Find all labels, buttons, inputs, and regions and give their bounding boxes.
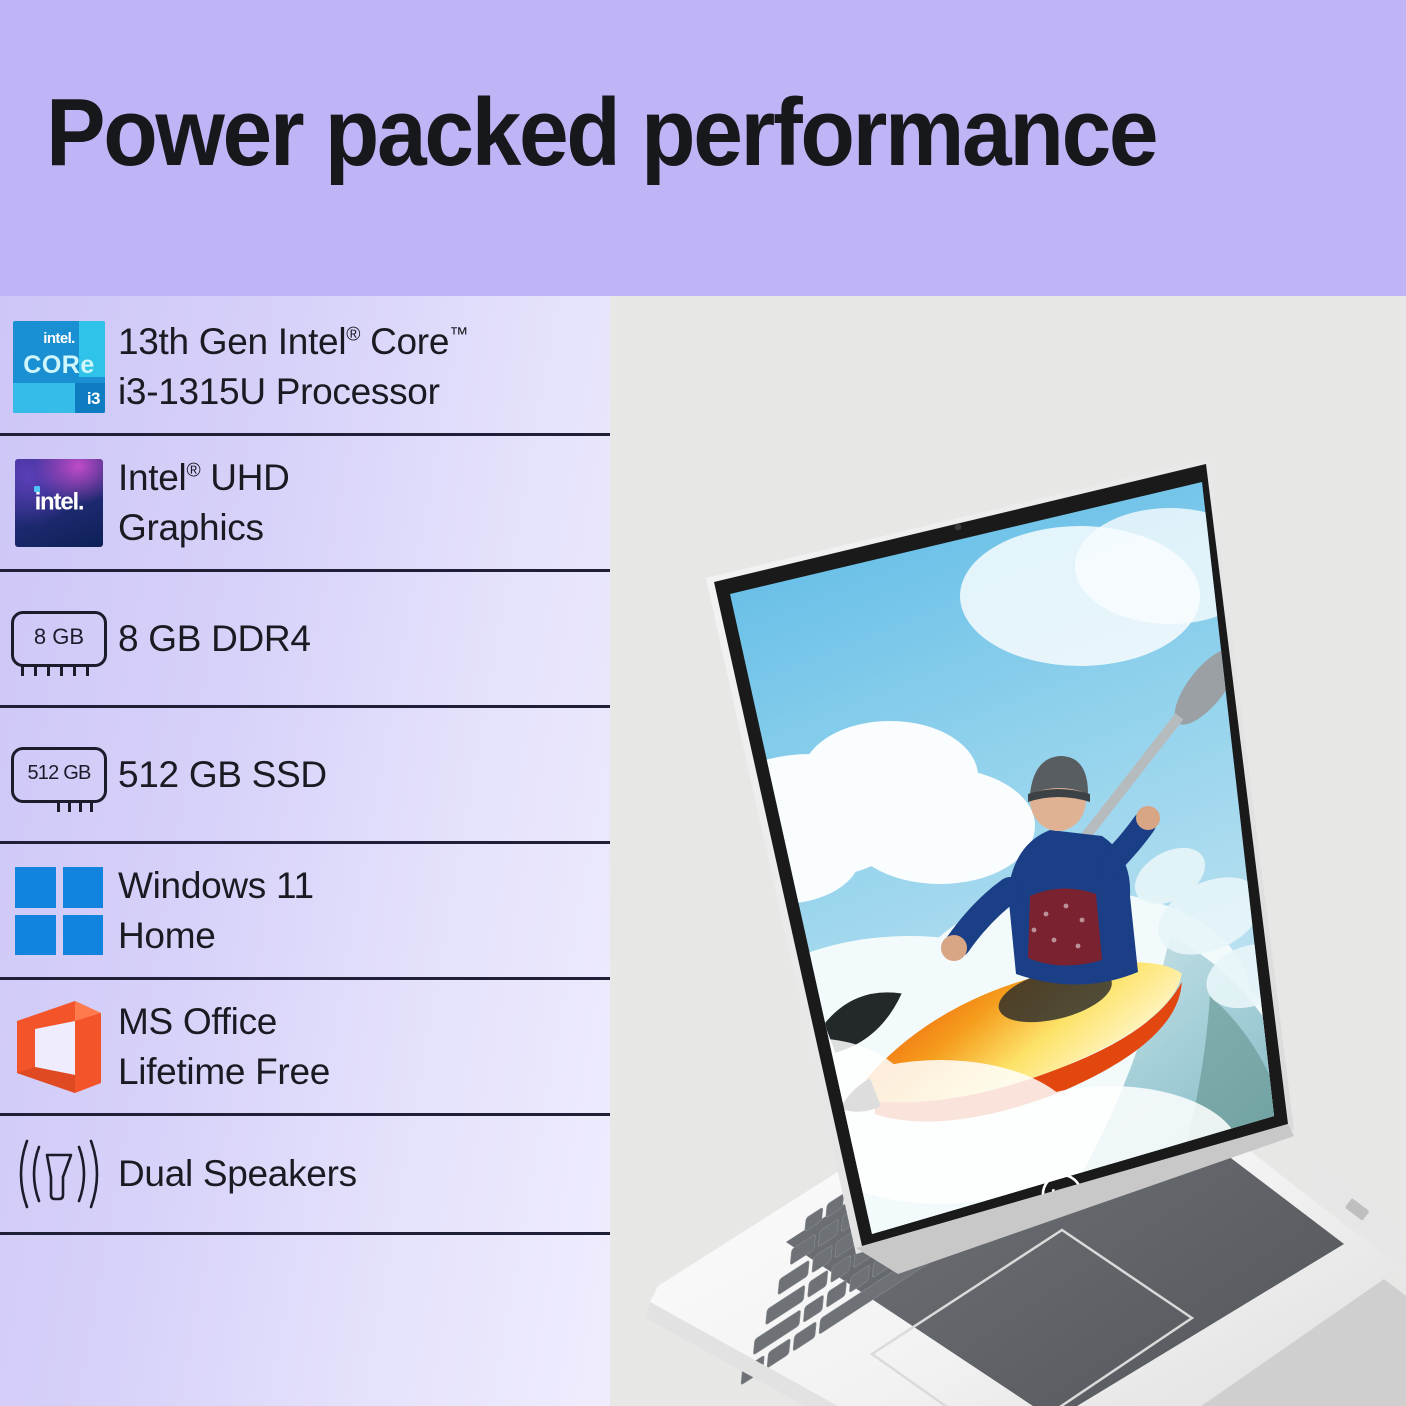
hp-laptop-photo: hp (610, 296, 1406, 1406)
ssd-chip-capacity: 512 GB (11, 747, 107, 803)
spec-label-graphics: Intel® UHDGraphics (118, 453, 290, 554)
spec-row-memory: 8 GB 8 GB DDR4 (0, 572, 610, 706)
spec-label-storage: 512 GB SSD (118, 750, 327, 800)
spec-label-office: MS Office Lifetime Free (118, 997, 330, 1098)
headline-banner: Power packed performance (0, 0, 1406, 296)
spec-list-panel: intel. CORe i3 13th Gen Intel® Core™i3-1… (0, 296, 610, 1406)
spec-row-storage: 512 GB 512 GB SSD (0, 708, 610, 842)
spec-divider (0, 1232, 610, 1235)
intel-core-i3-badge-icon: intel. CORe i3 (0, 308, 118, 426)
intel-uhd-badge-brand: intel. (15, 488, 103, 516)
spec-label-os: Windows 11 Home (118, 861, 314, 962)
spec-row-os: Windows 11 Home (0, 844, 610, 978)
spec-label-processor: 13th Gen Intel® Core™i3-1315U Processor (118, 317, 468, 418)
intel-core-badge-brand: intel. (13, 330, 105, 347)
product-image-panel: hp (610, 296, 1406, 1406)
spec-label-memory: 8 GB DDR4 (118, 614, 311, 664)
spec-row-speakers: Dual Speakers (0, 1116, 610, 1232)
memory-chip-icon: 8 GB (0, 580, 118, 698)
intel-uhd-graphics-badge-icon: intel. (0, 444, 118, 562)
dual-speaker-icon (0, 1115, 118, 1233)
memory-chip-capacity: 8 GB (11, 611, 107, 667)
infographic-page: Power packed performance intel. CORe i3 … (0, 0, 1406, 1406)
page-title: Power packed performance (46, 78, 1156, 188)
windows-logo-icon (0, 852, 118, 970)
intel-core-badge-family: CORe (13, 351, 105, 380)
spec-label-speakers: Dual Speakers (118, 1149, 357, 1199)
intel-core-badge-tier: i3 (87, 389, 100, 409)
ssd-chip-icon: 512 GB (0, 716, 118, 834)
spec-row-graphics: intel. Intel® UHDGraphics (0, 436, 610, 570)
spec-row-office: MS Office Lifetime Free (0, 980, 610, 1114)
laptop-display: hp (685, 458, 1320, 1274)
spec-row-processor: intel. CORe i3 13th Gen Intel® Core™i3-1… (0, 300, 610, 434)
ms-office-logo-icon (0, 988, 118, 1106)
